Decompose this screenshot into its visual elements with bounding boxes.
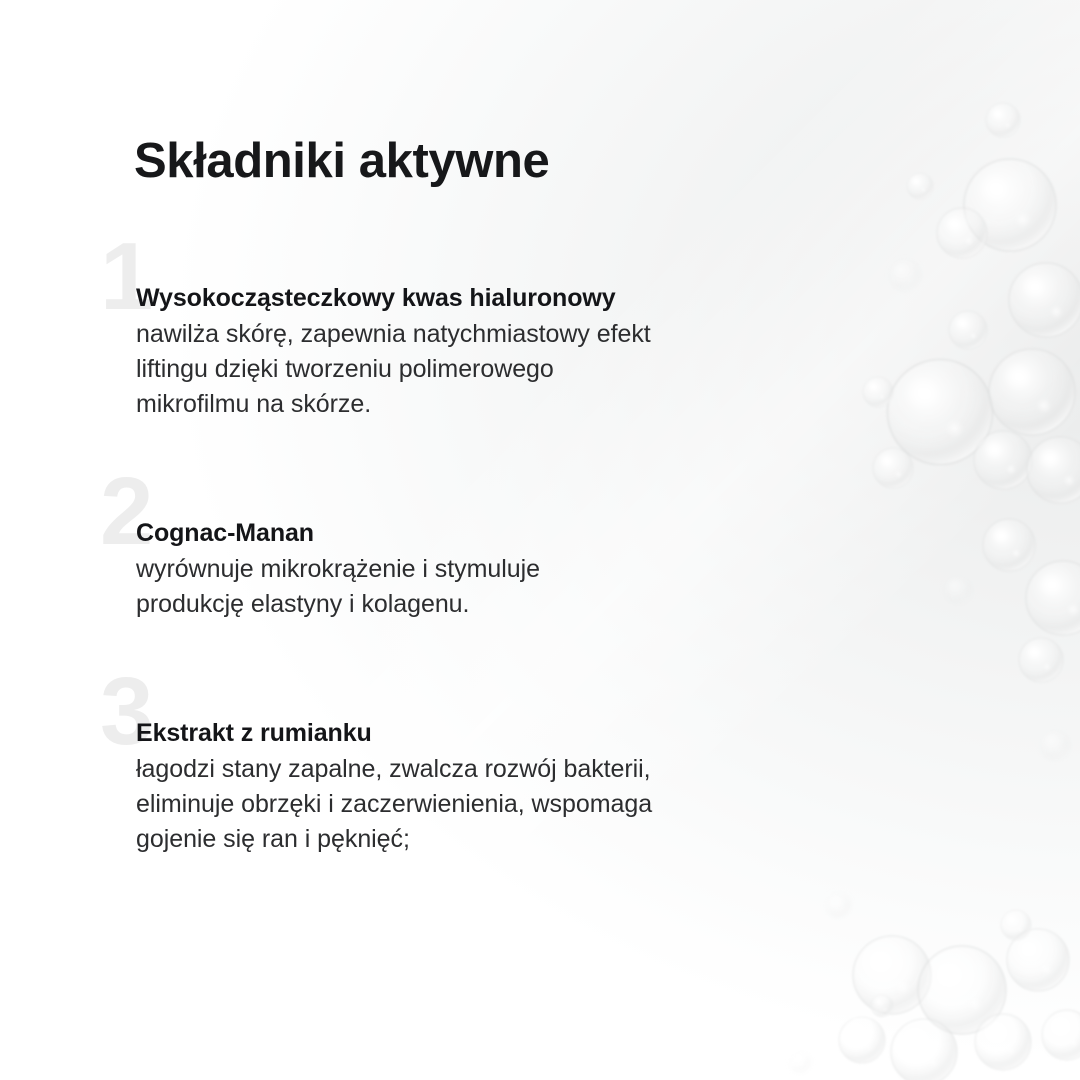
ingredient-text-3: łagodzi stany zapalne, zwalcza rozwój ba… bbox=[136, 752, 816, 858]
ingredient-body-3: Ekstrakt z rumianku łagodzi stany zapaln… bbox=[136, 671, 860, 857]
content-area: Składniki aktywne 1 Wysokocząsteczkowy k… bbox=[0, 0, 1080, 1080]
slide-root: Składniki aktywne 1 Wysokocząsteczkowy k… bbox=[0, 0, 1080, 1080]
ingredient-body-1: Wysokocząsteczkowy kwas hialuronowy nawi… bbox=[136, 236, 860, 422]
ingredient-text-1: nawilża skórę, zapewnia natychmiastowy e… bbox=[136, 317, 816, 423]
ingredient-text-line: łagodzi stany zapalne, zwalcza rozwój ba… bbox=[136, 752, 816, 787]
ingredient-text-line: eliminuje obrzęki i zaczerwienienia, wsp… bbox=[136, 787, 816, 822]
ingredient-text-line: gojenie się ran i pęknięć; bbox=[136, 822, 816, 857]
ingredient-heading-3: Ekstrakt z rumianku bbox=[136, 717, 860, 750]
ingredient-heading-1: Wysokocząsteczkowy kwas hialuronowy bbox=[136, 282, 860, 315]
page-title: Składniki aktywne bbox=[134, 134, 549, 189]
ingredient-text-2: wyrównuje mikrokrążenie i stymuluje prod… bbox=[136, 552, 816, 623]
ingredient-heading-2: Cognac-Manan bbox=[136, 517, 860, 550]
ingredient-item-2: 2 Cognac-Manan wyrównuje mikrokrążenie i… bbox=[100, 471, 860, 622]
ingredient-text-line: liftingu dzięki tworzeniu polimerowego bbox=[136, 352, 816, 387]
ingredient-text-line: mikrofilmu na skórze. bbox=[136, 387, 816, 422]
ingredient-text-line: produkcję elastyny i kolagenu. bbox=[136, 587, 816, 622]
ingredient-text-line: wyrównuje mikrokrążenie i stymuluje bbox=[136, 552, 816, 587]
ingredient-text-line: nawilża skórę, zapewnia natychmiastowy e… bbox=[136, 317, 816, 352]
ingredient-body-2: Cognac-Manan wyrównuje mikrokrążenie i s… bbox=[136, 471, 860, 622]
ingredient-item-3: 3 Ekstrakt z rumianku łagodzi stany zapa… bbox=[100, 671, 860, 857]
ingredient-item-1: 1 Wysokocząsteczkowy kwas hialuronowy na… bbox=[100, 236, 860, 422]
